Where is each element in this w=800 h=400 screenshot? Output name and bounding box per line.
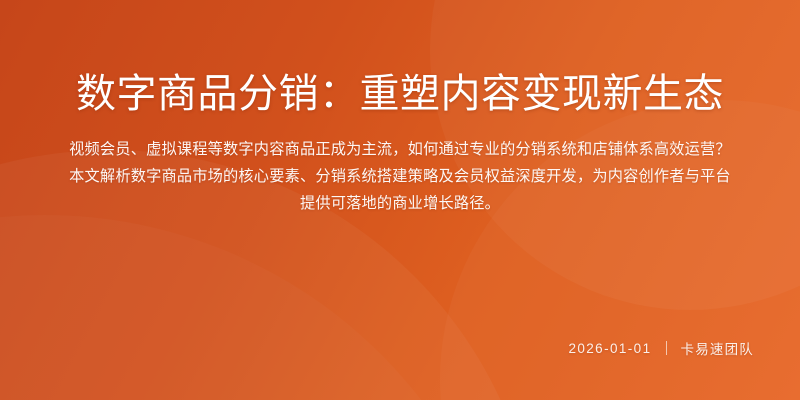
article-cover-banner: 数字商品分销：重塑内容变现新生态 视频会员、虚拟课程等数字内容商品正成为主流，如… xyxy=(0,0,800,400)
page-title: 数字商品分销：重塑内容变现新生态 xyxy=(46,0,754,120)
banner-content: 数字商品分销：重塑内容变现新生态 视频会员、虚拟课程等数字内容商品正成为主流，如… xyxy=(0,0,800,400)
article-summary: 视频会员、虚拟课程等数字内容商品正成为主流，如何通过专业的分销系统和店铺体系高效… xyxy=(64,120,736,217)
